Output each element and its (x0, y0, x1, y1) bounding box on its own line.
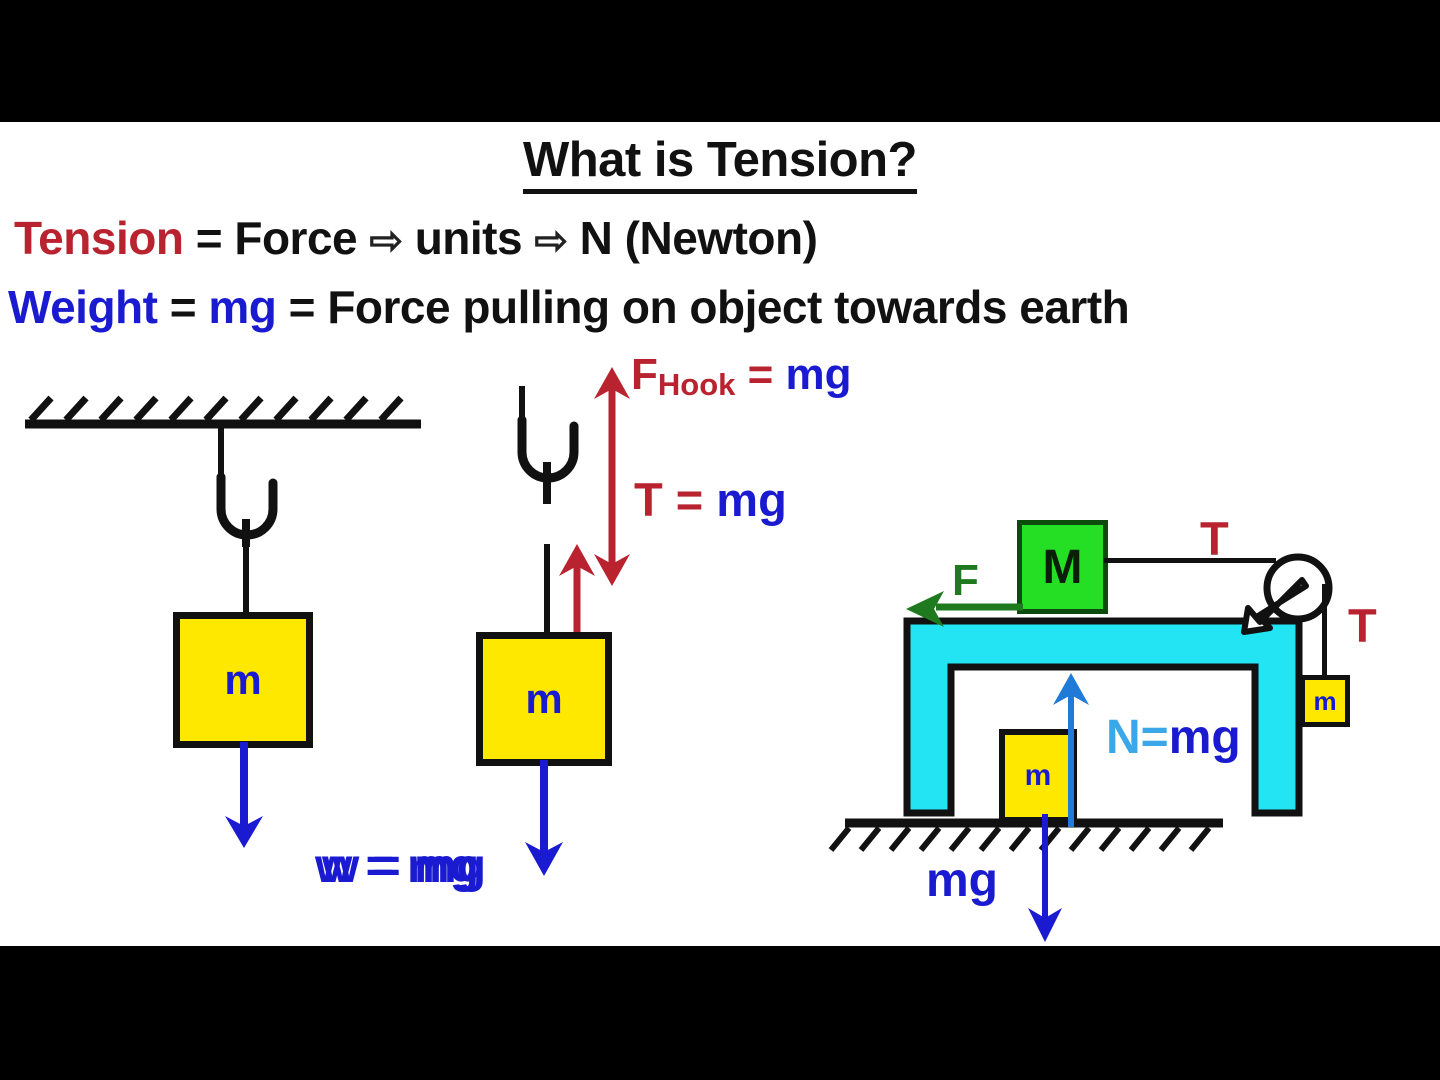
weight-eq-1: = (157, 281, 208, 333)
block-M: M (1017, 520, 1108, 614)
force-hook-value: mg (786, 350, 852, 399)
weight-label-right: mg (926, 853, 998, 908)
screenshot-stage: What is Tension? Tension = Force ⇨ units… (0, 0, 1440, 1080)
tension-equals-middle: = (663, 473, 717, 526)
weight-mg: mg (208, 281, 276, 333)
force-hook-subscript: Hook (658, 367, 736, 402)
mass-block-middle-label: m (525, 675, 562, 723)
hanging-mass-right-label: m (1313, 686, 1336, 717)
normal-force-N: N= (1106, 711, 1169, 764)
tension-rest-c: N (Newton) (567, 212, 817, 264)
letterbox-bottom-bar (0, 946, 1440, 1080)
rightwards-arrow-icon-2: ⇨ (534, 219, 567, 263)
tension-label-side-right: T (1348, 598, 1377, 653)
pulley-support-bracket (1240, 574, 1316, 636)
normal-force-label: N=mg (1106, 710, 1241, 765)
definition-line-weight: Weight = mg = Force pulling on object to… (8, 280, 1129, 334)
letterbox-top-bar (0, 0, 1440, 122)
tension-term: Tension (14, 212, 183, 264)
page-title: What is Tension? (0, 132, 1440, 188)
weight-arrow-middle (513, 760, 575, 880)
hanging-mass-right: m (1300, 675, 1350, 727)
mass-block-left: m (173, 612, 313, 748)
weight-rest: = Force pulling on object towards earth (276, 281, 1129, 333)
force-hook-label: FHook = mg (631, 350, 852, 403)
table-surface (903, 617, 1303, 817)
normal-force-arrow (1044, 671, 1098, 829)
block-M-label: M (1043, 540, 1083, 595)
page-title-text: What is Tension? (523, 133, 917, 194)
normal-force-mg: mg (1169, 711, 1241, 764)
mass-block-left-label: m (224, 656, 261, 704)
force-hook-symbol: F (631, 350, 658, 399)
applied-force-label: F (952, 556, 979, 606)
tension-label-middle: T = mg (634, 472, 787, 527)
tension-rest-a: = Force (183, 212, 369, 264)
weight-label-middle: w = mg (315, 839, 479, 894)
hook-icon-middle (497, 420, 587, 510)
rope-M-to-pulley (1104, 558, 1276, 563)
definition-line-tension: Tension = Force ⇨ units ⇨ N (Newton) (14, 211, 817, 265)
ceiling-hatched-surface (25, 392, 425, 432)
weight-arrow-left (213, 742, 275, 852)
hook-icon (196, 477, 286, 557)
tension-rest-b: units (402, 212, 534, 264)
tension-value-middle: mg (716, 473, 787, 526)
rope-pulley-to-mass (1322, 584, 1327, 680)
tension-symbol-middle: T (634, 473, 663, 526)
weight-arrow-right (1018, 814, 1072, 946)
weight-term: Weight (8, 281, 157, 333)
slide-canvas: What is Tension? Tension = Force ⇨ units… (0, 122, 1440, 946)
mass-block-middle: m (476, 632, 612, 766)
rightwards-arrow-icon-1: ⇨ (369, 219, 402, 263)
force-hook-equals: = (735, 350, 785, 399)
tension-label-top-right: T (1200, 511, 1229, 566)
